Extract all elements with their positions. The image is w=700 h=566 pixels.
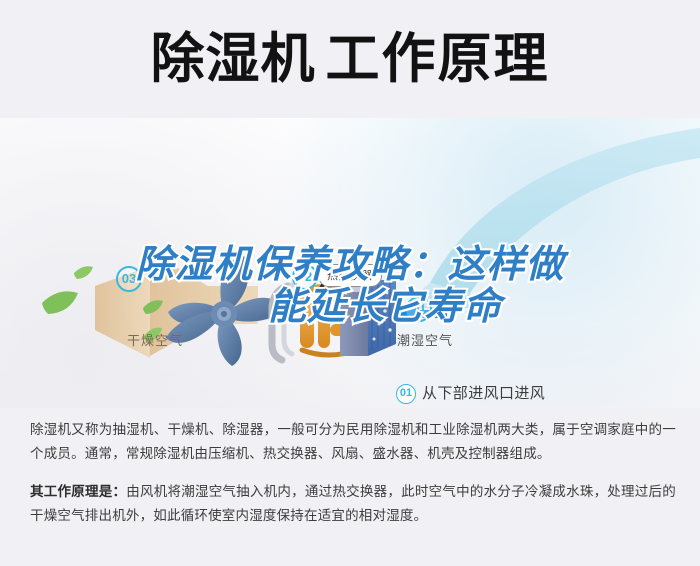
diagram-artwork	[0, 118, 700, 408]
article-paragraph-1: 除湿机又称为抽湿机、干燥机、除湿器，一般可分为民用除湿机和工业除湿机两大类，属于…	[30, 418, 676, 466]
page-title: 除湿机工作原理	[0, 28, 700, 90]
article-paragraph-2: 其工作原理是：由风机将潮湿空气抽入机内，通过热交换器，此时空气中的水分子冷凝成水…	[30, 480, 676, 528]
step-text-01: 从下部进风口进风	[422, 384, 545, 404]
diagram-step-list: 01 从下部进风口进风 02 经过蒸发器冷凝成水珠 03 从上部出风口吹出清新干…	[396, 384, 696, 408]
page-title-part2: 工作原理	[326, 29, 550, 89]
article-body: 除湿机又称为抽湿机、干燥机、除湿器，一般可分为民用除湿机和工业除湿机两大类，属于…	[30, 418, 676, 528]
article-page: 除湿机工作原理	[0, 0, 700, 566]
diagram-badge-02: 02	[292, 264, 318, 290]
step-badge-01: 01	[396, 384, 416, 404]
diagram-badge-03: 03	[116, 266, 142, 292]
step-item: 01 从下部进风口进风	[396, 384, 696, 404]
dehumidifier-diagram: 01 02 03 潮湿空气 干燥空气 水箱 热交换器 01 从下部进风口进风 0…	[0, 118, 700, 408]
callout-heat-exchanger: 热交换器	[318, 264, 382, 287]
article-paragraph-2-rest: 由风机将潮湿空气抽入机内，通过热交换器，此时空气中的水分子冷凝成水珠，处理过后的…	[30, 484, 676, 523]
label-wet-air: 潮湿空气	[397, 330, 453, 349]
page-title-part1: 除湿机	[151, 29, 316, 89]
diagram-badge-01: 01	[406, 296, 432, 322]
article-paragraph-2-lead: 其工作原理是：	[30, 484, 126, 499]
label-dry-air: 干燥空气	[127, 330, 183, 349]
